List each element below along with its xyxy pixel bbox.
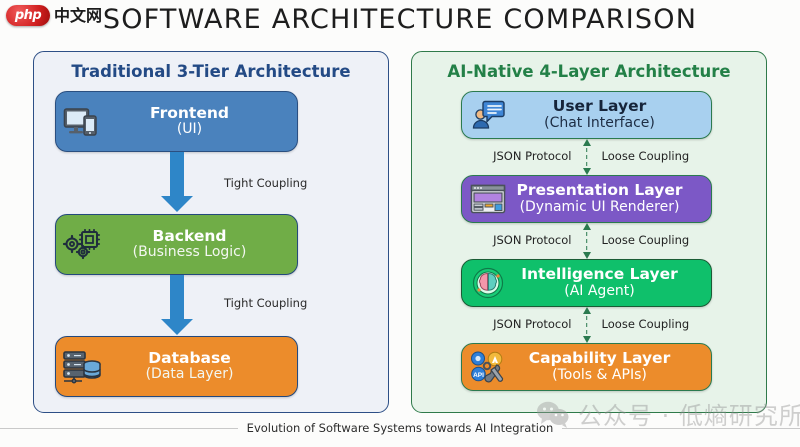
label-tight-coupling-1: Tight Coupling (224, 176, 307, 190)
arrow-down-icon (583, 336, 591, 343)
box-presentation-layer-subtitle: (Dynamic UI Renderer) (514, 200, 685, 216)
label-json-protocol-1: JSON Protocol (493, 149, 571, 163)
box-frontend-text: Frontend (UI) (108, 105, 297, 138)
box-database-text: Database (Data Layer) (108, 350, 297, 383)
box-capability-layer-subtitle: (Tools & APIs) (514, 368, 685, 384)
footer-text: Evolution of Software Systems towards AI… (247, 421, 554, 435)
gears-chip-icon (56, 229, 108, 261)
arrow-down-icon (583, 252, 591, 259)
arrow-frontend-to-backend-head (161, 196, 193, 212)
box-user-layer[interactable]: User Layer (Chat Interface) (461, 91, 712, 139)
box-capability-layer-title: Capability Layer (514, 350, 685, 367)
box-database-title: Database (108, 350, 271, 367)
user-chat-icon (462, 100, 514, 130)
browser-window-icon (462, 184, 514, 214)
label-json-protocol-2: JSON Protocol (493, 233, 571, 247)
arrow-backend-to-database (170, 275, 184, 321)
diagram-canvas: php 中文网 SOFTWARE ARCHITECTURE COMPARISON… (0, 0, 800, 447)
label-loose-coupling-1: Loose Coupling (602, 149, 690, 163)
arrow-down-icon (583, 168, 591, 175)
box-presentation-layer-text: Presentation Layer (Dynamic UI Renderer) (514, 182, 711, 215)
box-backend-text: Backend (Business Logic) (108, 228, 297, 261)
box-frontend-subtitle: (UI) (108, 122, 271, 138)
svg-text:API: API (473, 372, 484, 379)
wechat-icon (536, 400, 570, 428)
panel-right-title: AI-Native 4-Layer Architecture (412, 62, 766, 81)
box-capability-layer-text: Capability Layer (Tools & APIs) (514, 350, 711, 383)
connector-user-to-presentation: JSON Protocol Loose Coupling (461, 139, 712, 175)
monitor-phone-icon (56, 107, 108, 137)
server-database-icon (56, 350, 108, 384)
arrow-backend-to-database-head (161, 319, 193, 335)
site-logo: php 中文网 (6, 5, 102, 26)
box-user-layer-subtitle: (Chat Interface) (514, 116, 685, 132)
box-backend-subtitle: (Business Logic) (108, 245, 271, 261)
box-frontend-title: Frontend (108, 105, 271, 122)
footer-rule-left (0, 428, 238, 429)
php-logo-badge: php (6, 5, 50, 26)
arrow-frontend-to-backend (170, 152, 184, 198)
label-tight-coupling-2: Tight Coupling (224, 296, 307, 310)
label-loose-coupling-3: Loose Coupling (602, 317, 690, 331)
wechat-watermark: 公众号 · 低熵研究所 (536, 396, 800, 431)
box-user-layer-title: User Layer (514, 98, 685, 115)
box-backend-title: Backend (108, 228, 271, 245)
box-database-subtitle: (Data Layer) (108, 367, 271, 383)
watermark-label: 公众号 · 低熵研究所 (578, 396, 800, 431)
box-intelligence-layer-title: Intelligence Layer (514, 266, 685, 283)
label-json-protocol-3: JSON Protocol (493, 317, 571, 331)
tools-api-icon: API (462, 351, 514, 383)
box-frontend[interactable]: Frontend (UI) (55, 91, 298, 152)
box-capability-layer[interactable]: API Capability Layer (Tools & APIs) (461, 343, 712, 391)
box-intelligence-layer-text: Intelligence Layer (AI Agent) (514, 266, 711, 299)
box-intelligence-layer-subtitle: (AI Agent) (514, 284, 685, 300)
connector-presentation-to-intelligence: JSON Protocol Loose Coupling (461, 223, 712, 259)
box-presentation-layer-title: Presentation Layer (514, 182, 685, 199)
box-database[interactable]: Database (Data Layer) (55, 336, 298, 397)
box-intelligence-layer[interactable]: Intelligence Layer (AI Agent) (461, 259, 712, 307)
panel-left-title: Traditional 3-Tier Architecture (34, 62, 388, 81)
site-logo-label: 中文网 (54, 8, 102, 24)
box-user-layer-text: User Layer (Chat Interface) (514, 98, 711, 131)
connector-intelligence-to-capability: JSON Protocol Loose Coupling (461, 307, 712, 343)
box-presentation-layer[interactable]: Presentation Layer (Dynamic UI Renderer) (461, 175, 712, 223)
box-backend[interactable]: Backend (Business Logic) (55, 214, 298, 275)
page-title: SOFTWARE ARCHITECTURE COMPARISON (0, 4, 800, 35)
brain-icon (462, 267, 514, 299)
label-loose-coupling-2: Loose Coupling (602, 233, 690, 247)
